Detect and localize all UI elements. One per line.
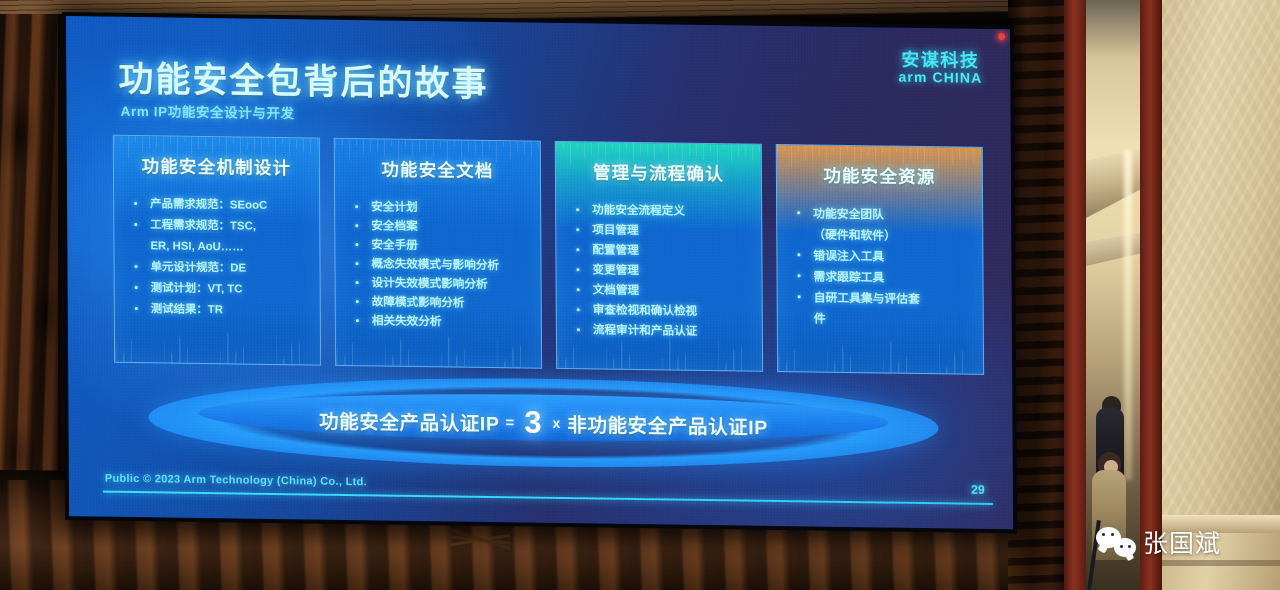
arm-china-logo: 安谋科技 arm CHINA [898, 50, 982, 87]
list-item: 测试计划：VT, TC [129, 279, 312, 301]
formula-left-term: 功能安全产品认证IP [319, 411, 500, 436]
list-item: 变更管理 [570, 261, 753, 282]
list-item: 概念失效模式与影响分析 [349, 255, 532, 275]
card-sawtooth-bottom [336, 327, 541, 368]
card-item-list: 功能安全流程定义 项目管理 配置管理 变更管理 文档管理 审查检视和确认检视 流… [556, 201, 762, 342]
list-item: 审查检视和确认检视 [571, 301, 754, 322]
door-frame-right [1140, 0, 1162, 590]
list-item-continuation: （硬件和软件） [791, 225, 974, 247]
watermark: 张国斌 [1096, 524, 1221, 560]
corridor-light-strip [1124, 150, 1132, 480]
list-item: 错误注入工具 [791, 246, 974, 268]
list-item: 功能安全团队 [791, 204, 974, 226]
formula-right-term: 非功能安全产品认证IP [567, 415, 768, 440]
list-item: 自研工具集与评估套 [792, 288, 975, 310]
page-subtitle: Arm IP功能安全设计与开发 [121, 100, 295, 122]
wall-base-edge [1162, 560, 1280, 566]
card-item-list: 功能安全团队 （硬件和软件） 错误注入工具 需求跟踪工具 自研工具集与评估套 件 [777, 204, 983, 331]
formula-equals-sign: = [505, 414, 514, 431]
list-item: 文档管理 [571, 281, 754, 302]
list-item: 故障模式影响分析 [350, 293, 533, 313]
card-sawtooth-bottom [115, 324, 320, 365]
page-title: 功能安全包背后的故事 [118, 51, 488, 107]
wechat-icon [1096, 527, 1136, 557]
list-item-continuation: ER, HSI, AoU…… [128, 237, 311, 259]
card-item-list: 产品需求规范：SEooC 工程需求规范：TSC, ER, HSI, AoU…… … [114, 195, 320, 322]
watermark-author-name: 张国斌 [1143, 524, 1221, 560]
list-item: 安全手册 [349, 236, 532, 256]
list-item: 产品需求规范：SEooC [128, 195, 311, 217]
card-title: 管理与流程确认 [556, 159, 761, 187]
card-safety-mechanism-design: 功能安全机制设计 产品需求规范：SEooC 工程需求规范：TSC, ER, HS… [113, 135, 321, 366]
list-item: 配置管理 [570, 241, 753, 262]
card-item-list: 安全计划 安全档案 安全手册 概念失效模式与影响分析 设计失效模式影响分析 故障… [335, 198, 541, 332]
card-management-process: 管理与流程确认 功能安全流程定义 项目管理 配置管理 变更管理 文档管理 审查检… [555, 141, 763, 372]
formula-times-sign: x [552, 415, 560, 431]
list-item: 测试结果：TR [129, 300, 312, 322]
list-item: 安全档案 [349, 217, 532, 237]
card-title: 功能安全文档 [335, 156, 540, 184]
slide-surface: 功能安全包背后的故事 Arm IP功能安全设计与开发 安谋科技 arm CHIN… [66, 16, 1013, 529]
formula-banner: 功能安全产品认证IP=3x非功能安全产品认证IP [108, 369, 979, 481]
card-safety-documents: 功能安全文档 安全计划 安全档案 安全手册 概念失效模式与影响分析 设计失效模式… [334, 138, 542, 369]
list-item: 工程需求规范：TSC, [128, 216, 311, 238]
list-item: 需求跟踪工具 [791, 267, 974, 289]
formula-multiplier: 3 [524, 404, 541, 439]
page-number: 29 [971, 483, 985, 497]
list-item: 流程审计和产品认证 [571, 321, 754, 342]
list-item: 项目管理 [570, 221, 753, 242]
card-row: 功能安全机制设计 产品需求规范：SEooC 工程需求规范：TSC, ER, HS… [113, 135, 984, 375]
list-item: 功能安全流程定义 [570, 201, 753, 222]
card-sawtooth-bottom [778, 333, 983, 374]
card-title: 功能安全机制设计 [114, 153, 319, 181]
screen-status-led [998, 33, 1005, 40]
copyright-notice: Public © 2023 Arm Technology (China) Co.… [105, 473, 367, 489]
beige-wall [1162, 0, 1280, 590]
list-item: 相关失效分析 [350, 312, 533, 332]
list-item: 安全计划 [349, 198, 532, 218]
list-item: 设计失效模式影响分析 [350, 274, 533, 294]
logo-chinese-text: 安谋科技 [898, 50, 982, 71]
logo-english-text: arm CHINA [898, 70, 982, 87]
list-item: 单元设计规范：DE [128, 258, 311, 280]
card-title: 功能安全资源 [777, 162, 982, 190]
list-item-continuation: 件 [792, 309, 975, 331]
door-frame-left [1064, 0, 1088, 590]
led-screen: 功能安全包背后的故事 Arm IP功能安全设计与开发 安谋科技 arm CHIN… [62, 12, 1017, 533]
footer-divider [103, 490, 993, 505]
photo-scene: 功能安全包背后的故事 Arm IP功能安全设计与开发 安谋科技 arm CHIN… [0, 0, 1280, 590]
card-safety-resources: 功能安全资源 功能安全团队 （硬件和软件） 错误注入工具 需求跟踪工具 自研工具… [776, 144, 984, 375]
